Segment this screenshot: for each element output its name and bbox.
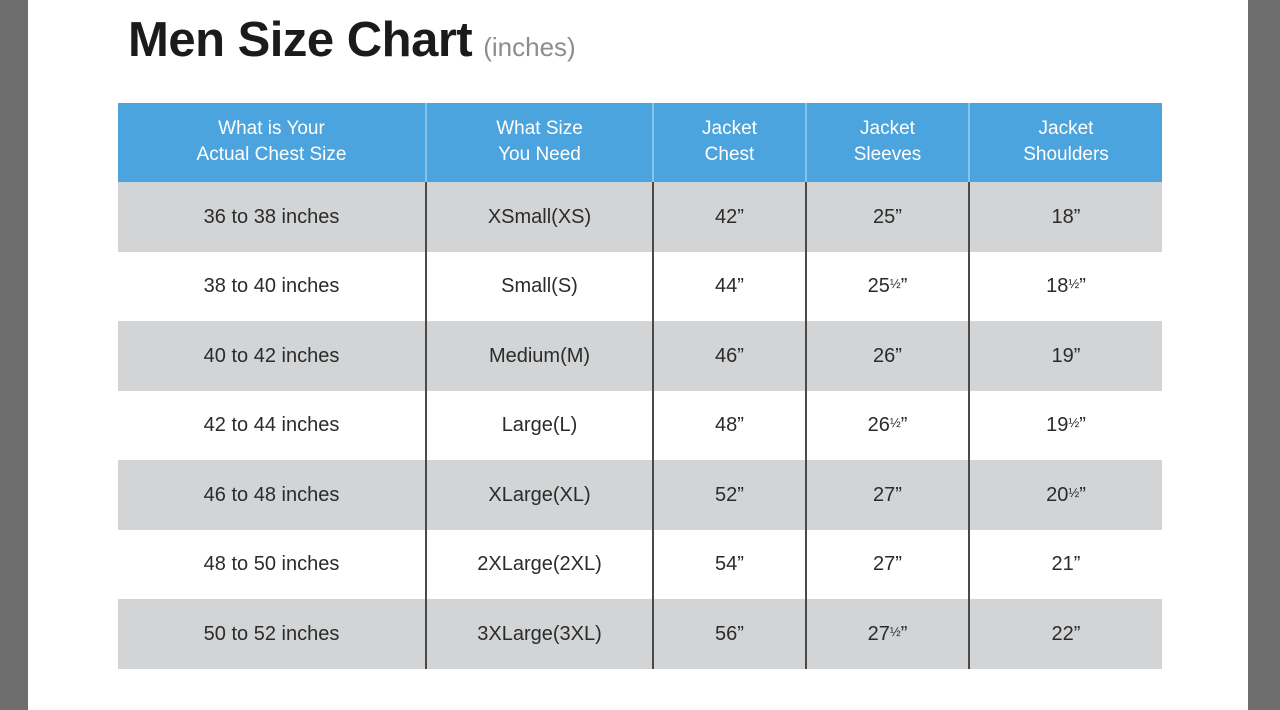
cell-jacket-shoulders: 18” [969,182,1162,252]
cell-jacket-shoulders: 19½” [969,391,1162,461]
value-inch-mark: ” [895,206,902,228]
value-inch-mark: ” [1079,275,1086,297]
table-row: 42 to 44 inches Large(L) 48” 26½” 19½” [118,391,1162,461]
value-inch-mark: ” [1074,345,1081,367]
cell-jacket-shoulders: 20½” [969,460,1162,530]
value-fraction: ½ [1068,485,1079,500]
column-header-line-2: Sleeves [811,142,964,168]
value-whole: 27 [873,553,895,575]
cell-jacket-sleeves: 25½” [806,252,969,322]
column-header-size-needed: What Size You Need [426,103,653,182]
value-fraction: ½ [1068,415,1079,430]
value-whole: 27 [873,484,895,506]
value-fraction: ½ [890,624,901,639]
value-whole: 19 [1052,345,1074,367]
page-title-unit: (inches) [483,34,575,60]
value-fraction: ½ [890,276,901,291]
cell-size-needed: Small(S) [426,252,653,322]
letterbox-band-right [1248,0,1280,710]
table-header: What is Your Actual Chest Size What Size… [118,103,1162,182]
cell-actual-chest: 48 to 50 inches [118,530,426,600]
cell-jacket-sleeves: 27” [806,530,969,600]
column-header-line-2: You Need [431,142,648,168]
value-inch-mark: ” [1079,484,1086,506]
column-header-line-1: Jacket [974,116,1158,142]
table-row: 36 to 38 inches XSmall(XS) 42” 25” 18” [118,182,1162,252]
cell-size-needed: XSmall(XS) [426,182,653,252]
cell-jacket-shoulders: 21” [969,530,1162,600]
value-whole: 18 [1046,275,1068,297]
cell-jacket-sleeves: 27” [806,460,969,530]
table-body: 36 to 38 inches XSmall(XS) 42” 25” 18” 3… [118,182,1162,669]
cell-jacket-sleeves: 25” [806,182,969,252]
cell-jacket-chest: 44” [653,252,806,322]
cell-actual-chest: 40 to 42 inches [118,321,426,391]
cell-jacket-sleeves: 26½” [806,391,969,461]
column-header-line-1: What is Your [122,116,421,142]
value-inch-mark: ” [895,553,902,575]
cell-size-needed: Medium(M) [426,321,653,391]
table-row: 50 to 52 inches 3XLarge(3XL) 56” 27½” 22… [118,599,1162,669]
value-whole: 20 [1046,484,1068,506]
cell-jacket-chest: 48” [653,391,806,461]
size-chart-canvas: Men Size Chart (inches) What is Your Act… [28,0,1248,710]
value-inch-mark: ” [1079,414,1086,436]
cell-jacket-sleeves: 26” [806,321,969,391]
value-fraction: ½ [1068,276,1079,291]
cell-size-needed: Large(L) [426,391,653,461]
column-header-line-1: What Size [431,116,648,142]
value-whole: 25 [868,275,890,297]
cell-actual-chest: 46 to 48 inches [118,460,426,530]
men-size-chart-table: What is Your Actual Chest Size What Size… [118,103,1162,669]
cell-jacket-chest: 42” [653,182,806,252]
column-header-line-1: Jacket [811,116,964,142]
value-whole: 26 [873,345,895,367]
page-title: Men Size Chart (inches) [128,16,576,65]
value-whole: 25 [873,206,895,228]
value-inch-mark: ” [1074,553,1081,575]
table-row: 48 to 50 inches 2XLarge(2XL) 54” 27” 21” [118,530,1162,600]
column-header-line-2: Shoulders [974,142,1158,168]
table-header-row: What is Your Actual Chest Size What Size… [118,103,1162,182]
cell-jacket-shoulders: 18½” [969,252,1162,322]
column-header-line-1: Jacket [658,116,801,142]
cell-actual-chest: 50 to 52 inches [118,599,426,669]
cell-jacket-chest: 56” [653,599,806,669]
column-header-jacket-sleeves: Jacket Sleeves [806,103,969,182]
cell-actual-chest: 36 to 38 inches [118,182,426,252]
table-row: 46 to 48 inches XLarge(XL) 52” 27” 20½” [118,460,1162,530]
cell-jacket-chest: 54” [653,530,806,600]
value-inch-mark: ” [901,414,908,436]
cell-jacket-shoulders: 19” [969,321,1162,391]
table-row: 40 to 42 inches Medium(M) 46” 26” 19” [118,321,1162,391]
value-inch-mark: ” [895,345,902,367]
value-inch-mark: ” [1074,206,1081,228]
cell-actual-chest: 42 to 44 inches [118,391,426,461]
column-header-jacket-shoulders: Jacket Shoulders [969,103,1162,182]
cell-size-needed: XLarge(XL) [426,460,653,530]
page-title-main: Men Size Chart [128,16,472,65]
value-inch-mark: ” [1074,623,1081,645]
column-header-line-2: Actual Chest Size [122,142,421,168]
cell-size-needed: 3XLarge(3XL) [426,599,653,669]
column-header-line-2: Chest [658,142,801,168]
value-whole: 21 [1052,553,1074,575]
value-whole: 19 [1046,414,1068,436]
column-header-jacket-chest: Jacket Chest [653,103,806,182]
cell-jacket-chest: 52” [653,460,806,530]
column-header-actual-chest: What is Your Actual Chest Size [118,103,426,182]
value-fraction: ½ [890,415,901,430]
cell-size-needed: 2XLarge(2XL) [426,530,653,600]
value-whole: 22 [1052,623,1074,645]
cell-jacket-shoulders: 22” [969,599,1162,669]
letterbox-band-left [0,0,28,710]
value-inch-mark: ” [901,275,908,297]
value-whole: 27 [868,623,890,645]
value-whole: 26 [868,414,890,436]
cell-actual-chest: 38 to 40 inches [118,252,426,322]
cell-jacket-chest: 46” [653,321,806,391]
value-inch-mark: ” [901,623,908,645]
table-row: 38 to 40 inches Small(S) 44” 25½” 18½” [118,252,1162,322]
value-whole: 18 [1052,206,1074,228]
cell-jacket-sleeves: 27½” [806,599,969,669]
value-inch-mark: ” [895,484,902,506]
